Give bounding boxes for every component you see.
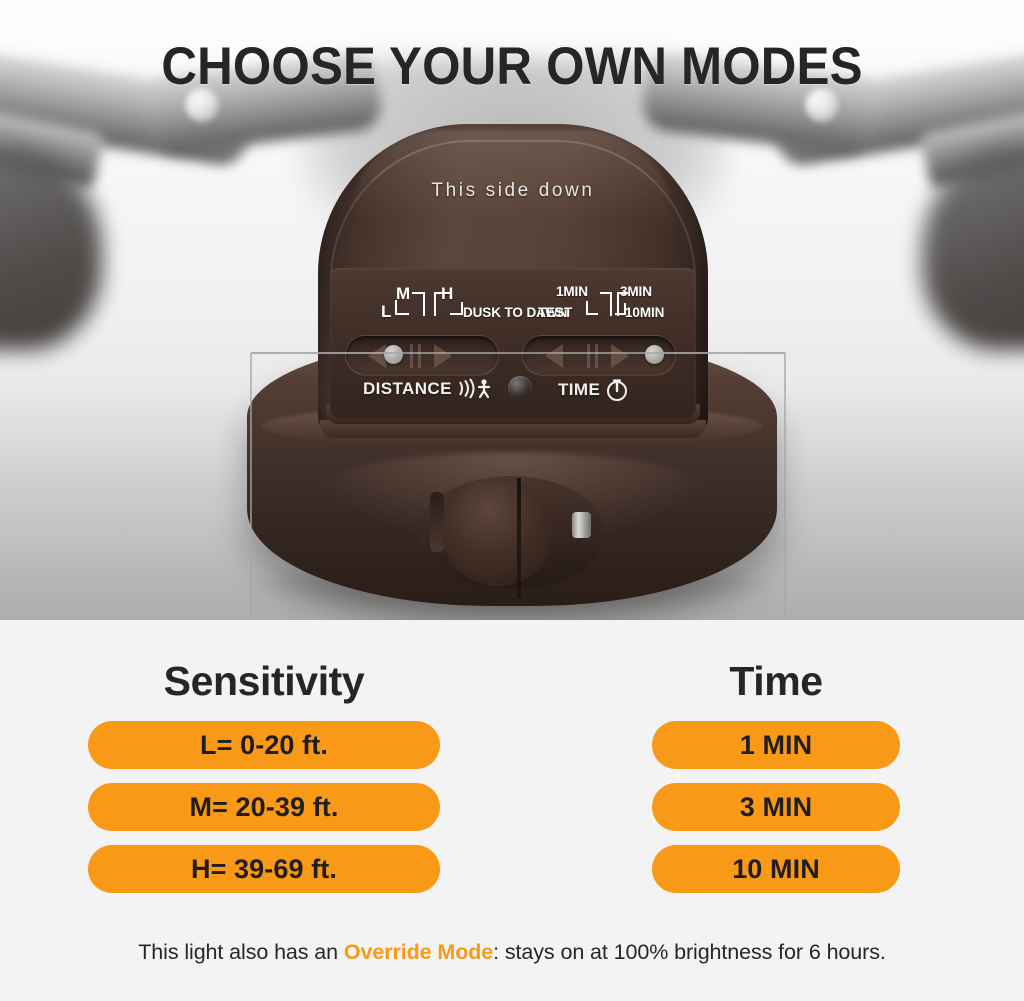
product-photo: This side down M H L DUSK TO DAWN 1MIN 3… xyxy=(0,0,1024,620)
time-column: Time 1 MIN 3 MIN 10 MIN xyxy=(652,620,900,907)
knuckle-screw-icon xyxy=(572,512,591,538)
slider-arrow-right-icon xyxy=(611,344,629,368)
knuckle-seam xyxy=(517,478,521,598)
footer-text-before: This light also has an xyxy=(138,940,344,964)
time-option-3min[interactable]: 3 MIN xyxy=(652,783,900,831)
sensitivity-option-h[interactable]: H= 39-69 ft. xyxy=(88,845,440,893)
override-mode-highlight: Override Mode xyxy=(344,940,493,964)
footer-text-after: : stays on at 100% brightness for 6 hour… xyxy=(493,940,886,964)
knuckle-ball xyxy=(442,478,554,586)
motion-sensor-icon xyxy=(457,378,495,399)
sensitivity-option-m[interactable]: M= 20-39 ft. xyxy=(88,783,440,831)
mark-10min: 10MIN xyxy=(625,305,664,320)
slider-arrow-left-icon xyxy=(545,344,563,368)
time-option-10min[interactable]: 10 MIN xyxy=(652,845,900,893)
led-indicator-icon xyxy=(508,376,532,400)
sensitivity-heading: Sensitivity xyxy=(88,658,440,705)
time-label-group: TIME xyxy=(558,378,629,402)
slider-tick xyxy=(595,344,598,368)
distance-label-group: DISTANCE xyxy=(363,378,495,399)
slider-tick xyxy=(410,344,413,368)
slider-arrow-right-icon xyxy=(434,344,452,368)
time-heading: Time xyxy=(652,658,900,705)
slider-tick xyxy=(587,344,590,368)
mark-test: TEST xyxy=(538,305,572,320)
distance-scale-marks: M H L DUSK TO DAWN xyxy=(340,278,530,326)
distance-slider[interactable] xyxy=(345,335,499,375)
mark-1min: 1MIN xyxy=(556,284,588,299)
modes-info-panel: Sensitivity L= 0-20 ft. M= 20-39 ft. H= … xyxy=(0,620,1024,1001)
power-timer-icon xyxy=(605,378,629,402)
override-mode-note: This light also has an Override Mode: st… xyxy=(0,940,1024,965)
sensitivity-column: Sensitivity L= 0-20 ft. M= 20-39 ft. H= … xyxy=(88,620,440,907)
slider-tick xyxy=(418,344,421,368)
time-option-1min[interactable]: 1 MIN xyxy=(652,721,900,769)
time-label: TIME xyxy=(558,380,600,400)
mark-L: L xyxy=(381,302,392,322)
page-title: CHOOSE YOUR OWN MODES xyxy=(36,36,988,97)
distance-label: DISTANCE xyxy=(363,379,452,399)
distance-slider-knob[interactable] xyxy=(384,345,403,364)
sensitivity-option-l[interactable]: L= 0-20 ft. xyxy=(88,721,440,769)
time-scale-marks: 1MIN 3MIN TEST 10MIN xyxy=(520,278,710,326)
time-slider-knob[interactable] xyxy=(645,345,664,364)
this-side-down-label: This side down xyxy=(318,180,708,202)
